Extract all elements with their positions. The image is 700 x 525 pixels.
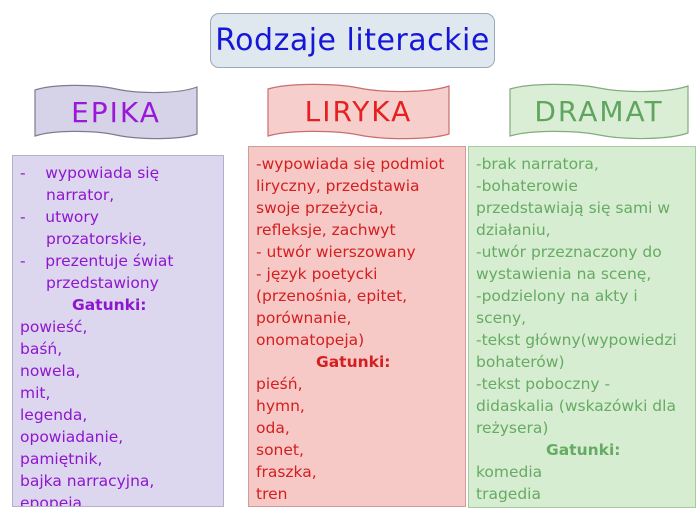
genre-item: pamiętnik,	[20, 448, 216, 470]
genre-item: epopeja.	[20, 492, 216, 507]
feature-line: reżysera)	[476, 417, 688, 439]
genre-item: legenda,	[20, 404, 216, 426]
feature-line: -utwór przeznaczony do	[476, 241, 688, 263]
feature-line: (przenośnia, epitet,	[256, 285, 458, 307]
genre-item: powieść,	[20, 316, 216, 338]
banner-dramat: DRAMAT	[508, 82, 690, 140]
genre-item: komedia	[476, 461, 688, 483]
feature-line: onomatopeja)	[256, 329, 458, 351]
feature-line: - utwór wierszowany	[256, 241, 458, 263]
feature-line: -bohaterowie	[476, 175, 688, 197]
feature-line: prozatorskie,	[20, 228, 216, 250]
genre-item: tren	[256, 483, 458, 505]
feature-line: sceny,	[476, 307, 688, 329]
gatunki-heading: Gatunki:	[20, 294, 216, 316]
panel-dramat-content: -brak narratora, -bohaterowie przedstawi…	[476, 153, 688, 508]
feature-line: wystawienia na scenę,	[476, 263, 688, 285]
feature-line: -brak narratora,	[476, 153, 688, 175]
feature-line: swoje przeżycia,	[256, 197, 458, 219]
banner-epika-label: EPIKA	[33, 84, 199, 140]
panel-liryka-content: -wypowiada się podmiot liryczny, przedst…	[256, 153, 458, 505]
feature-line: refleksje, zachwyt	[256, 219, 458, 241]
panel-dramat: -brak narratora, -bohaterowie przedstawi…	[468, 146, 696, 508]
feature-line: porównanie,	[256, 307, 458, 329]
banner-epika: EPIKA	[33, 84, 199, 140]
feature-line: -wypowiada się podmiot	[256, 153, 458, 175]
genre-item: bajka narracyjna,	[20, 470, 216, 492]
genre-item: opowiadanie,	[20, 426, 216, 448]
feature-line: - prezentuje świat	[20, 250, 216, 272]
page-title: Rodzaje literackie	[215, 23, 490, 58]
genre-item: mit,	[20, 382, 216, 404]
genre-item: pieśń,	[256, 373, 458, 395]
gatunki-heading: Gatunki:	[256, 351, 458, 373]
panel-epika-content: - wypowiada się narrator, - utwory proza…	[20, 162, 216, 507]
banner-liryka-label: LIRYKA	[266, 83, 451, 140]
genre-item: oda,	[256, 417, 458, 439]
feature-line: -podzielony na akty i	[476, 285, 688, 307]
banner-dramat-label: DRAMAT	[508, 82, 690, 140]
feature-line: - język poetycki	[256, 263, 458, 285]
genre-item: sonet,	[256, 439, 458, 461]
diagram-title-box: Rodzaje literackie	[210, 13, 495, 68]
feature-line: - utwory	[20, 206, 216, 228]
gatunki-heading: Gatunki:	[476, 439, 688, 461]
genre-item: dramat właściwy	[476, 505, 688, 508]
feature-line: bohaterów)	[476, 351, 688, 373]
panel-liryka: -wypowiada się podmiot liryczny, przedst…	[248, 146, 466, 507]
genre-item: baśń,	[20, 338, 216, 360]
panel-epika: - wypowiada się narrator, - utwory proza…	[12, 155, 224, 507]
genre-item: fraszka,	[256, 461, 458, 483]
genre-item: nowela,	[20, 360, 216, 382]
feature-line: narrator,	[20, 184, 216, 206]
genre-item: tragedia	[476, 483, 688, 505]
genre-item: hymn,	[256, 395, 458, 417]
feature-line: działaniu,	[476, 219, 688, 241]
diagram-canvas: Rodzaje literackie EPIKA LIRYKA DRAMAT -…	[0, 0, 700, 525]
feature-line: -tekst poboczny -	[476, 373, 688, 395]
feature-line: przedstawiają się sami w	[476, 197, 688, 219]
feature-line: liryczny, przedstawia	[256, 175, 458, 197]
banner-liryka: LIRYKA	[266, 83, 451, 140]
feature-line: - wypowiada się	[20, 162, 216, 184]
feature-line: -tekst główny(wypowiedzi	[476, 329, 688, 351]
feature-line: przedstawiony	[20, 272, 216, 294]
feature-line: didaskalia (wskazówki dla	[476, 395, 688, 417]
